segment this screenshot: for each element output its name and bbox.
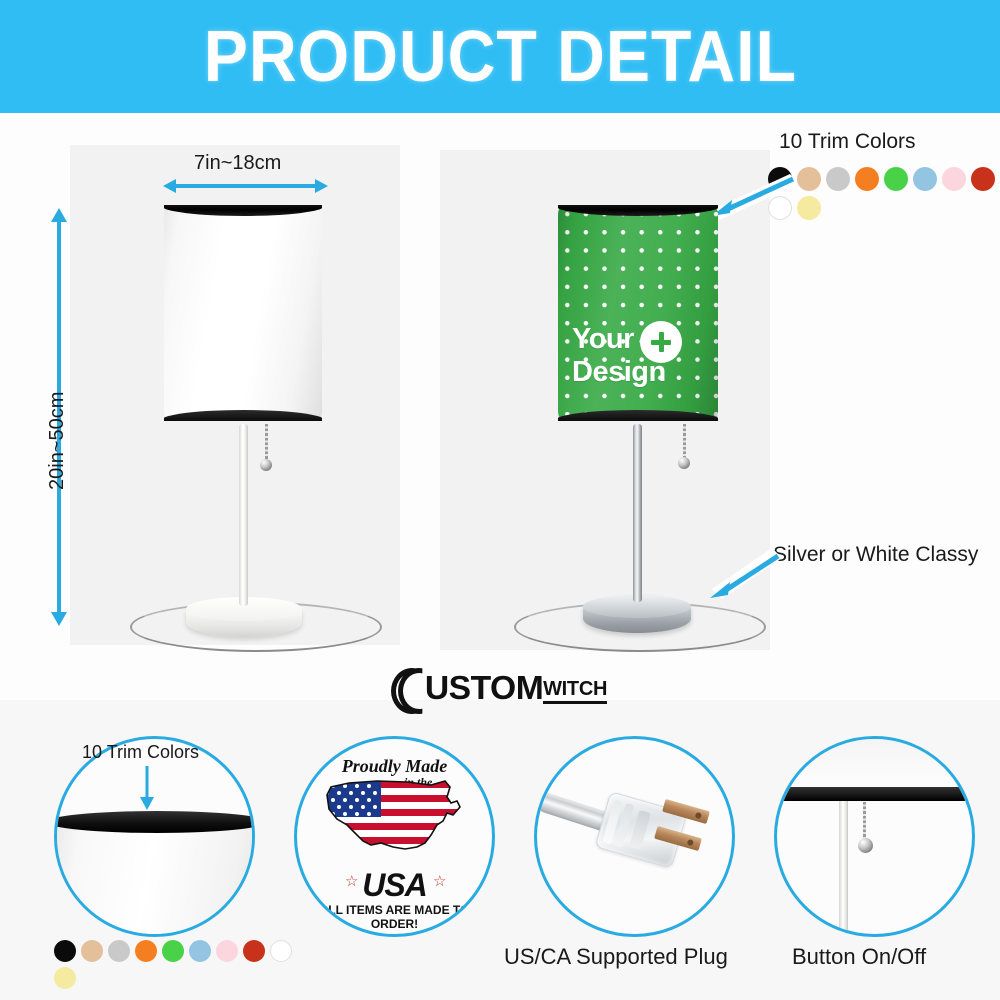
shade-trim-fragment <box>781 787 967 801</box>
trim-color-swatch-pink[interactable] <box>216 940 238 962</box>
trim-color-swatch-red[interactable] <box>971 167 995 191</box>
width-dimension-label: 7in~18cm <box>194 152 281 175</box>
feature-caption-switch: Button On/Off <box>792 944 926 970</box>
logo-main-text: USTOM <box>425 671 543 704</box>
trim-color-swatch-green[interactable] <box>884 167 908 191</box>
page-title: PRODUCT DETAIL <box>203 16 796 98</box>
usa-flag-map-icon <box>319 773 471 863</box>
product-detail-page: PRODUCT DETAIL 10 Trim Colors 7in~18cm 2… <box>0 0 1000 1000</box>
star-icon: ☆ <box>433 872 446 890</box>
pull-chain[interactable] <box>863 802 866 843</box>
feature-circle-trim-colors <box>54 736 255 937</box>
trim-color-swatch-gray[interactable] <box>826 167 850 191</box>
usa-badge-word: USA <box>297 867 492 904</box>
usa-badge: Proudly Made in the <box>297 739 492 934</box>
height-dimension-label: 20in~50cm <box>46 392 69 490</box>
feature-caption-plug: US/CA Supported Plug <box>504 944 728 970</box>
trim-colors-swatch-row-top[interactable] <box>768 167 1000 220</box>
trim-color-swatch-red[interactable] <box>243 940 265 962</box>
brand-logo: USTOM WITCH <box>391 668 607 704</box>
design-text-line1: Your <box>572 324 634 354</box>
shade-trim-fragment <box>54 811 255 833</box>
trim-color-swatch-white[interactable] <box>270 940 292 962</box>
trim-color-swatch-pink[interactable] <box>942 167 966 191</box>
pull-chain-ball[interactable] <box>678 457 690 469</box>
trim-color-swatch-light-blue[interactable] <box>189 940 211 962</box>
lamp-shade <box>164 205 322 421</box>
trim-color-swatch-black[interactable] <box>768 167 792 191</box>
pull-chain-ball[interactable] <box>858 838 873 853</box>
base-finish-label: Silver or White Classy <box>773 543 978 567</box>
design-text-line2: Design <box>572 357 666 387</box>
trim-color-swatch-black[interactable] <box>54 940 76 962</box>
trim-color-swatch-yellow[interactable] <box>54 967 76 989</box>
feature-circle-switch <box>774 736 975 937</box>
feature-caption-trim-colors: 10 Trim Colors <box>82 742 199 763</box>
trim-color-swatch-orange[interactable] <box>135 940 157 962</box>
logo-sub-text: WITCH <box>543 678 607 704</box>
width-dimension-arrow <box>163 182 328 190</box>
lamp-pole <box>633 424 642 602</box>
lamp-pole-fragment <box>839 801 848 936</box>
shade-fragment <box>54 819 255 937</box>
trim-colors-swatch-row-bottom[interactable] <box>54 940 294 989</box>
trim-color-swatch-gray[interactable] <box>108 940 130 962</box>
usa-badge-note: ALL ITEMS ARE MADE TO ORDER! <box>297 903 492 931</box>
trim-color-swatch-green[interactable] <box>162 940 184 962</box>
trim-color-swatch-tan[interactable] <box>81 940 103 962</box>
trim-color-swatch-white[interactable] <box>768 196 792 220</box>
lamp-shade: Your Design <box>558 205 718 421</box>
pull-chain[interactable] <box>265 424 268 464</box>
pull-chain-ball[interactable] <box>260 459 272 471</box>
star-icon: ☆ <box>345 872 358 890</box>
feature-circle-plug <box>534 736 735 937</box>
trim-color-swatch-yellow[interactable] <box>797 196 821 220</box>
trim-color-swatch-tan[interactable] <box>797 167 821 191</box>
logo-c-icon <box>391 668 425 704</box>
trim-color-swatch-light-blue[interactable] <box>913 167 937 191</box>
trim-colors-label-top: 10 Trim Colors <box>779 130 916 154</box>
feature-circle-made-in-usa: Proudly Made in the <box>294 736 495 937</box>
trim-color-swatch-orange[interactable] <box>855 167 879 191</box>
page-header-banner: PRODUCT DETAIL <box>0 0 1000 113</box>
lamp-pole <box>239 424 248 606</box>
